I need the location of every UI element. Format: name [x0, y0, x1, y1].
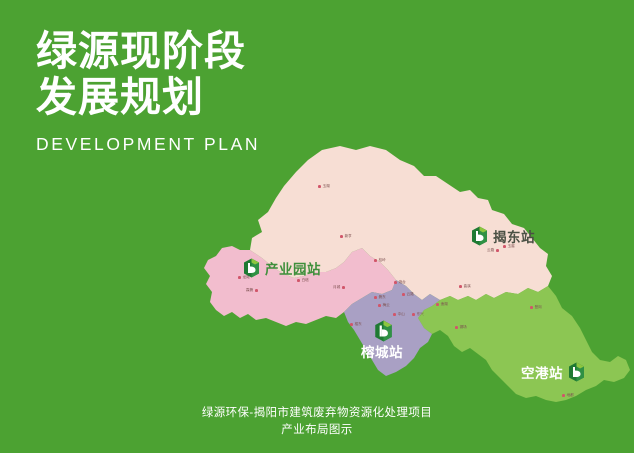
place-dot-icon	[496, 249, 499, 252]
place-dot-icon	[394, 281, 397, 284]
caption-block: 绿源环保-揭阳市建筑废弃物资源化处理项目 产业布局图示	[0, 405, 634, 439]
station-label-konggang: 空港站	[521, 362, 563, 382]
place-dot-icon	[255, 289, 258, 292]
place-name: 东兴	[417, 312, 424, 317]
place-name: 渔湖	[441, 302, 448, 307]
place-label: 炮台	[394, 280, 406, 285]
place-label: 东兴	[412, 312, 424, 317]
station-label-rongcheng: 榕城站	[361, 341, 403, 361]
subtitle: DEVELOPMENT PLAN	[36, 134, 336, 155]
place-name: 登岗	[535, 305, 542, 310]
place-label: 地都	[562, 393, 574, 398]
place-label: 梅云	[378, 303, 390, 308]
place-name: 玉湖	[323, 184, 330, 189]
place-label: 白塔	[297, 278, 309, 283]
place-dot-icon	[436, 303, 439, 306]
place-dot-icon	[297, 279, 300, 282]
place-name: 霖磐	[246, 288, 253, 293]
place-label: 中山	[393, 312, 405, 317]
place-dot-icon	[378, 304, 381, 307]
place-dot-icon	[402, 293, 405, 296]
place-name: 梅云	[383, 303, 390, 308]
place-label: 云路	[487, 248, 499, 253]
station-marker-rongcheng[interactable]: 榕城站	[361, 320, 403, 361]
place-dot-icon	[393, 313, 396, 316]
place-name: 白塔	[302, 278, 309, 283]
place-name: 月城	[333, 285, 340, 290]
place-name: 桂岭	[379, 258, 386, 263]
place-name: 云路	[407, 292, 414, 297]
map-region-konggang[interactable]	[418, 286, 630, 402]
place-dot-icon	[374, 296, 377, 299]
place-dot-icon	[459, 285, 462, 288]
place-name: 中山	[398, 312, 405, 317]
place-label: 榕东	[350, 322, 362, 327]
title-line-2: 发展规划	[36, 74, 336, 120]
place-name: 磐东	[379, 295, 386, 300]
place-label: 锡场	[455, 325, 467, 330]
place-name: 地都	[567, 393, 574, 398]
place-dot-icon	[412, 313, 415, 316]
station-marker-chanyeyuan[interactable]: 产业园站	[243, 258, 321, 278]
lvyuan-logo-icon	[568, 362, 585, 382]
place-name: 曲溪	[464, 284, 471, 289]
station-marker-konggang[interactable]: 空港站	[521, 362, 585, 382]
station-marker-jiedong[interactable]: 揭东站	[471, 226, 535, 246]
place-dot-icon	[318, 185, 321, 188]
place-label: 磐东	[374, 295, 386, 300]
caption-line-1: 绿源环保-揭阳市建筑废弃物资源化处理项目	[0, 405, 634, 422]
place-label: 登岗	[530, 305, 542, 310]
place-label: 玉湖	[318, 184, 330, 189]
place-dot-icon	[455, 326, 458, 329]
place-label: 霖磐	[246, 288, 258, 293]
caption-line-2: 产业布局图示	[0, 422, 634, 439]
place-label: 曲溪	[459, 284, 471, 289]
place-name: 云路	[487, 248, 494, 253]
place-label: 新亨	[340, 234, 352, 239]
place-dot-icon	[530, 306, 533, 309]
place-dot-icon	[562, 394, 565, 397]
lvyuan-logo-icon	[243, 258, 260, 278]
place-dot-icon	[238, 276, 241, 279]
place-name: 炮台	[399, 280, 406, 285]
title-line-1: 绿源现阶段	[36, 28, 336, 74]
place-label: 桂岭	[374, 258, 386, 263]
place-label: 月城	[333, 285, 345, 290]
place-name: 锡场	[460, 325, 467, 330]
place-name: 新亨	[345, 234, 352, 239]
place-dot-icon	[350, 323, 353, 326]
place-label: 云路	[402, 292, 414, 297]
place-dot-icon	[374, 259, 377, 262]
station-label-jiedong: 揭东站	[493, 226, 535, 246]
place-label: 渔湖	[436, 302, 448, 307]
lvyuan-logo-icon	[374, 320, 391, 340]
station-label-chanyeyuan: 产业园站	[265, 258, 321, 278]
place-dot-icon	[342, 286, 345, 289]
title-block: 绿源现阶段 发展规划 DEVELOPMENT PLAN	[36, 28, 336, 155]
slide-canvas: 绿源现阶段 发展规划 DEVELOPMENT PLAN 产业园站	[0, 0, 634, 453]
lvyuan-logo-icon	[471, 226, 488, 246]
place-dot-icon	[340, 235, 343, 238]
